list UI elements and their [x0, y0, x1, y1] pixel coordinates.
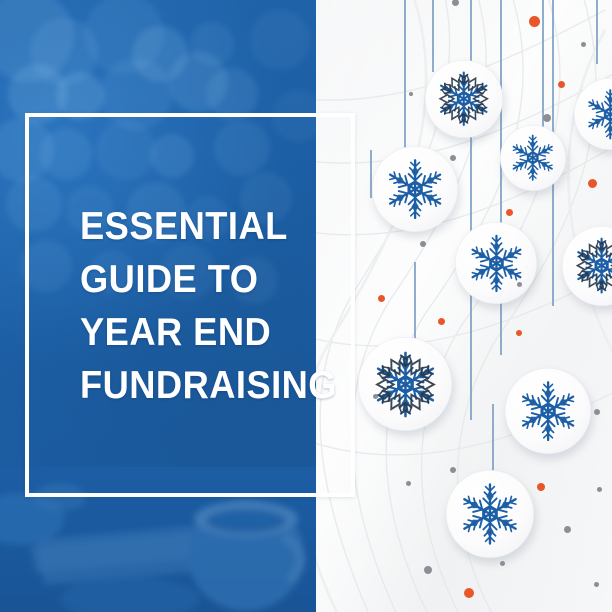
- grey-dot: [450, 467, 456, 473]
- ornament-mid-center: [455, 222, 537, 304]
- accent-dot: [464, 588, 474, 598]
- accent-dot: [537, 483, 545, 491]
- grey-dot: [450, 155, 456, 161]
- snowflake-icon: [453, 477, 527, 551]
- snowflake-icon: [505, 130, 560, 185]
- grey-dot: [373, 394, 378, 399]
- ornament-top-center: [425, 60, 503, 138]
- grey-dot: [543, 114, 551, 122]
- ornament-lower-left: [358, 337, 452, 431]
- ornament-thread: [596, 0, 598, 64]
- accent-dot: [378, 295, 385, 302]
- bokeh-circle: [132, 26, 188, 82]
- accent-dot: [506, 209, 513, 216]
- grey-dot: [500, 561, 505, 566]
- accent-dot: [516, 330, 522, 336]
- bokeh-circle: [168, 52, 228, 112]
- grey-dot: [594, 582, 599, 587]
- grey-dot: [409, 92, 413, 96]
- snowflake-icon: [512, 375, 584, 447]
- snowflake-icon: [379, 153, 451, 225]
- grey-dot: [597, 487, 602, 492]
- accent-dot: [529, 16, 540, 27]
- snowflake-icon: [431, 66, 497, 132]
- page-title: ESSENTIAL GUIDE TO YEAR END FUNDRAISING: [80, 200, 303, 412]
- snowflake-icon: [462, 229, 531, 298]
- snowflake-icon: [580, 84, 612, 145]
- accent-dot: [558, 81, 565, 88]
- poster-canvas: ESSENTIAL GUIDE TO YEAR END FUNDRAISING: [0, 0, 612, 612]
- accent-dot: [438, 318, 445, 325]
- bokeh-circle: [30, 18, 98, 86]
- snowflake-icon: [366, 345, 445, 424]
- ornament-thread: [404, 0, 406, 160]
- ornament-upper-right: [500, 125, 566, 191]
- ornament-mid-right: [562, 226, 612, 306]
- grey-dot: [581, 42, 586, 47]
- ornament-bottom: [446, 470, 534, 558]
- bokeh-circle: [0, 0, 74, 82]
- bokeh-circle: [84, 0, 164, 74]
- bokeh-circle: [250, 10, 310, 70]
- bokeh-circle: [190, 22, 234, 66]
- grey-dot: [424, 566, 432, 574]
- ornament-right-edge: [574, 78, 612, 150]
- snowflake-icon: [568, 232, 612, 299]
- grey-dot: [406, 481, 411, 486]
- grey-dot: [564, 526, 571, 533]
- ornament-lower-right: [505, 368, 591, 454]
- ornament-left-large: [372, 146, 458, 232]
- grey-dot: [594, 409, 600, 415]
- grey-dot: [517, 282, 522, 287]
- grey-dot: [420, 241, 426, 247]
- grey-dot: [452, 0, 459, 6]
- accent-dot: [588, 179, 597, 188]
